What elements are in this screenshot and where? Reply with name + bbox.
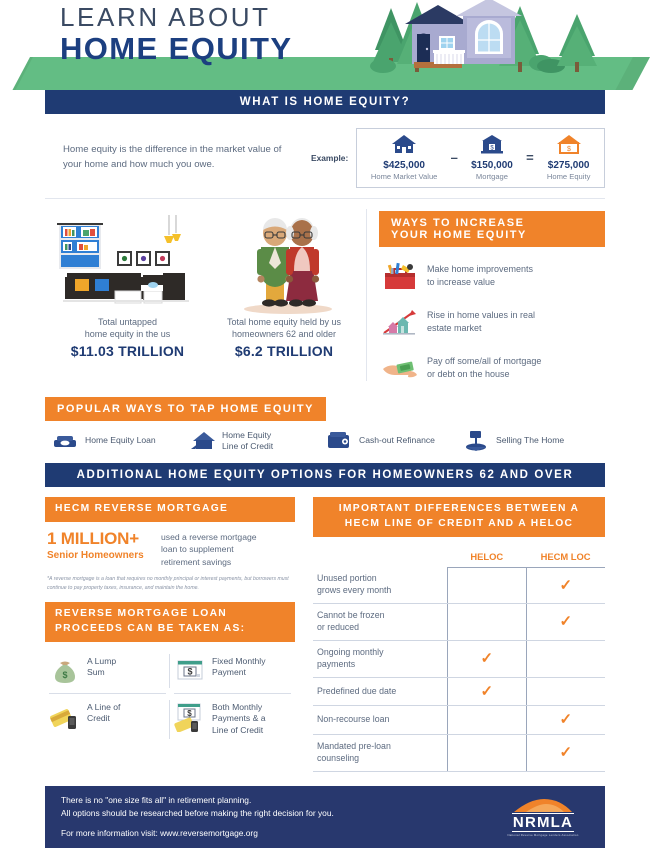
nrmla-tagline: National Reverse Mortgage Lenders Associ… xyxy=(497,833,589,837)
heloc-cell: ✓ xyxy=(447,604,526,641)
example-box: $425,000 Home Market Value – $ $150,000 … xyxy=(356,128,605,188)
comparison-header: IMPORTANT DIFFERENCES BETWEEN A HECM LIN… xyxy=(313,497,605,537)
example-amount: $275,000 xyxy=(547,160,590,171)
hecm-fineprint: *A reverse mortgage is a loan that requi… xyxy=(45,568,295,592)
example-amount: $425,000 xyxy=(371,160,438,171)
infographic-page: LEARN ABOUT HOME EQUITY WHAT IS HOME EQU… xyxy=(0,0,650,691)
example-item-home-equity: $ $275,000 Home Equity xyxy=(547,134,590,181)
hecm-stat-description: used a reverse mortgage loan to suppleme… xyxy=(155,530,257,568)
proceeds-option-label: Both Monthly Payments & a Line of Credit xyxy=(208,702,266,737)
sunrise-icon xyxy=(508,796,578,813)
check-icon: ✓ xyxy=(560,711,573,728)
heloc-cell: ✓ xyxy=(447,706,526,735)
proceeds-option-label: Fixed Monthly Payment xyxy=(208,656,266,679)
way-item-pay-off: Pay off some/all of mortgage or debt on … xyxy=(379,351,605,385)
table-row: Unused portion grows every month ✓ ✓ xyxy=(313,567,605,603)
table-row: Predefined due date ✓ ✓ xyxy=(313,677,605,706)
operator-minus: – xyxy=(449,150,460,165)
stat-value: $11.03 TRILLION xyxy=(45,343,210,359)
ways-to-increase-section: WAYS TO INCREASE YOUR HOME EQUITY xyxy=(375,199,605,385)
row-label: Mandated pre-loan counseling xyxy=(313,735,447,772)
stats-and-ways: Total untapped home equity in the us $11… xyxy=(45,199,605,385)
heloc-cell: ✓ xyxy=(447,567,526,603)
example-caption: Home Equity xyxy=(547,172,590,181)
stat-value: $6.2 TRILLION xyxy=(210,343,358,359)
ways-heading-line-2: YOUR HOME EQUITY xyxy=(391,229,593,241)
credit-cards-icon xyxy=(49,702,83,732)
money-bag-icon: $ xyxy=(49,656,83,686)
heloc-cell: ✓ xyxy=(447,677,526,706)
footer-website-link[interactable]: For more information visit: www.reversem… xyxy=(61,827,497,840)
hecm-reverse-mortgage-header: HECM REVERSE MORTGAGE xyxy=(45,497,295,522)
svg-text:$: $ xyxy=(187,666,192,676)
hecm-stat-figure: 1 MILLION+ Senior Homeowners xyxy=(47,530,155,568)
toolbox-icon xyxy=(379,259,421,293)
stat-untapped-equity: Total untapped home equity in the us $11… xyxy=(45,211,210,385)
hecm-cell: ✓ xyxy=(526,735,605,772)
way-text: Pay off some/all of mortgage or debt on … xyxy=(421,355,541,381)
hecm-cell: ✓ xyxy=(526,604,605,641)
vertical-divider xyxy=(366,209,367,381)
way-item-improvements: Make home improvements to increase value xyxy=(379,259,605,293)
ways-heading-line-1: WAYS TO INCREASE xyxy=(391,217,593,229)
stat-senior-equity: Total home equity held by us homeowners … xyxy=(210,211,358,385)
comparison-table-body: Unused portion grows every month ✓ ✓ Can… xyxy=(313,567,605,771)
house-dollar-icon: $ xyxy=(556,134,582,154)
hand-money-icon xyxy=(379,351,421,385)
svg-text:$: $ xyxy=(62,670,67,680)
footer-line-1: There is no "one size fits all" in retir… xyxy=(61,794,497,807)
proceeds-options-grid: $ A Lump Sum $ xyxy=(45,642,295,745)
operator-equals: = xyxy=(524,150,536,165)
footer-text: There is no "one size fits all" in retir… xyxy=(61,794,497,840)
table-row: Ongoing monthly payments ✓ ✓ xyxy=(313,640,605,677)
header-banner: LEARN ABOUT HOME EQUITY xyxy=(0,0,650,90)
popular-way-label: Home Equity Loan xyxy=(81,435,156,446)
popular-ways-header: POPULAR WAYS TO TAP HOME EQUITY xyxy=(45,397,326,421)
hecm-cell: ✓ xyxy=(526,706,605,735)
additional-options-header: ADDITIONAL HOME EQUITY OPTIONS FOR HOMEO… xyxy=(45,463,605,487)
popular-ways-section: POPULAR WAYS TO TAP HOME EQUITY Home Equ… xyxy=(45,397,605,463)
proceeds-option-label: A Lump Sum xyxy=(83,656,116,679)
bank-icon: $ xyxy=(480,134,504,154)
rising-chart-houses-icon xyxy=(379,305,421,339)
row-label: Non-recourse loan xyxy=(313,706,447,735)
what-is-section-header: WHAT IS HOME EQUITY? xyxy=(45,90,605,114)
what-is-bar-wrap: WHAT IS HOME EQUITY? xyxy=(45,90,605,114)
example-calculation: Example: $425,000 Home Market Value – xyxy=(295,128,605,188)
example-caption: Home Market Value xyxy=(371,172,438,181)
proceeds-header: REVERSE MORTGAGE LOAN PROCEEDS CAN BE TA… xyxy=(45,602,295,642)
popular-way-line-of-credit: Home Equity Line of Credit xyxy=(188,429,325,453)
lower-content: HECM REVERSE MORTGAGE 1 MILLION+ Senior … xyxy=(45,487,605,772)
table-header-row: HELOC HECM LOC xyxy=(313,547,605,568)
table-row: Non-recourse loan ✓ ✓ xyxy=(313,706,605,735)
example-item-market-value: $425,000 Home Market Value xyxy=(371,134,438,181)
comparison-heading-line-1: IMPORTANT DIFFERENCES BETWEEN A xyxy=(323,502,595,517)
hecm-stat-row: 1 MILLION+ Senior Homeowners used a reve… xyxy=(45,522,295,568)
popular-way-selling-the-home: Selling The Home xyxy=(462,429,599,453)
way-text: Rise in home values in real estate marke… xyxy=(421,309,535,335)
proceeds-option-label: A Line of Credit xyxy=(83,702,120,725)
row-label: Cannot be frozen or reduced xyxy=(313,604,447,641)
proceeds-option-lump-sum: $ A Lump Sum xyxy=(45,648,170,694)
house-scene-illustration xyxy=(355,0,650,90)
house-arrow-icon xyxy=(188,429,218,453)
living-room-illustration xyxy=(45,211,210,316)
wallet-icon xyxy=(325,429,355,453)
title-line-1: LEARN ABOUT xyxy=(60,4,292,31)
check-icon: ✓ xyxy=(560,577,573,594)
what-is-description: Home equity is the difference in the mar… xyxy=(45,143,295,173)
ways-to-increase-header: WAYS TO INCREASE YOUR HOME EQUITY xyxy=(379,211,605,247)
title-line-2: HOME EQUITY xyxy=(60,33,292,66)
house-icon xyxy=(391,134,417,154)
comparison-heading-line-2: HECM LINE OF CREDIT AND A HELOC xyxy=(323,517,595,532)
senior-couple-illustration xyxy=(210,211,358,316)
heloc-cell: ✓ xyxy=(447,640,526,677)
column-header-hecm-loc: HECM LOC xyxy=(526,547,605,568)
stat-caption-line-1: Total home equity held by us xyxy=(210,316,358,328)
footer-line-2: All options should be researched before … xyxy=(61,807,497,820)
check-and-cards-icon: $ xyxy=(174,702,208,732)
what-is-content: Home equity is the difference in the mar… xyxy=(45,114,605,198)
hecm-cell: ✓ xyxy=(526,567,605,603)
way-item-home-values: Rise in home values in real estate marke… xyxy=(379,305,605,339)
popular-way-cash-out-refinance: Cash-out Refinance xyxy=(325,429,462,453)
table-row: Mandated pre-loan counseling ✓ ✓ xyxy=(313,735,605,772)
example-item-mortgage: $ $150,000 Mortgage xyxy=(471,134,513,181)
popular-way-label: Cash-out Refinance xyxy=(355,435,435,446)
row-label: Ongoing monthly payments xyxy=(313,640,447,677)
table-row: Cannot be frozen or reduced ✓ ✓ xyxy=(313,604,605,641)
popular-way-label: Selling The Home xyxy=(492,435,564,446)
additional-options-bar-wrap: ADDITIONAL HOME EQUITY OPTIONS FOR HOMEO… xyxy=(45,463,605,487)
check-icon: ✓ xyxy=(480,650,493,667)
popular-ways-list: Home Equity Loan Home Equity Line of Cre… xyxy=(45,421,605,463)
svg-text:$: $ xyxy=(567,146,571,153)
stat-caption-line-1: Total untapped xyxy=(45,316,210,328)
svg-text:$: $ xyxy=(187,709,192,718)
stats-group: Total untapped home equity in the us $11… xyxy=(45,199,358,385)
nrmla-wordmark: NRMLA xyxy=(512,813,574,832)
hecm-cell: ✓ xyxy=(526,640,605,677)
example-amount: $150,000 xyxy=(471,160,513,171)
column-header-heloc: HELOC xyxy=(447,547,526,568)
hecm-cell: ✓ xyxy=(526,677,605,706)
example-label: Example: xyxy=(311,153,348,163)
popular-way-home-equity-loan: Home Equity Loan xyxy=(51,429,188,453)
proceeds-heading-line-2: PROCEEDS CAN BE TAKEN AS: xyxy=(55,622,285,637)
popular-way-label: Home Equity Line of Credit xyxy=(218,430,273,452)
proceeds-option-fixed-monthly: $ Fixed Monthly Payment xyxy=(170,648,295,694)
check-icon: ✓ xyxy=(560,744,573,761)
proceeds-heading-line-1: REVERSE MORTGAGE LOAN xyxy=(55,607,285,622)
heloc-cell: ✓ xyxy=(447,735,526,772)
hecm-column: HECM REVERSE MORTGAGE 1 MILLION+ Senior … xyxy=(45,497,295,772)
way-text: Make home improvements to increase value xyxy=(421,263,533,289)
cash-stack-icon xyxy=(51,429,81,453)
stat-caption-line-2: home equity in the us xyxy=(45,328,210,340)
example-caption: Mortgage xyxy=(471,172,513,181)
proceeds-option-both: $ Both Monthly Payments & a Line of Cred… xyxy=(170,694,295,745)
column-header-blank xyxy=(313,547,447,568)
comparison-table: HELOC HECM LOC Unused portion grows ever… xyxy=(313,547,605,772)
row-label: Predefined due date xyxy=(313,677,447,706)
hecm-stat-sub: Senior Homeowners xyxy=(47,550,155,561)
proceeds-option-line-of-credit: A Line of Credit xyxy=(45,694,170,745)
stat-caption-line-2: homeowners 62 and older xyxy=(210,328,358,340)
check-icon: ✓ xyxy=(560,613,573,630)
comparison-column: IMPORTANT DIFFERENCES BETWEEN A HECM LIN… xyxy=(295,497,605,772)
hecm-stat-big: 1 MILLION+ xyxy=(47,530,155,547)
footer-banner: There is no "one size fits all" in retir… xyxy=(45,786,605,848)
nrmla-logo: NRMLA National Reverse Mortgage Lenders … xyxy=(497,796,589,837)
check-icon: ✓ xyxy=(480,683,493,700)
check-dollar-icon: $ xyxy=(174,656,208,686)
row-label: Unused portion grows every month xyxy=(313,567,447,603)
page-title: LEARN ABOUT HOME EQUITY xyxy=(60,4,292,66)
for-sale-sign-icon xyxy=(462,429,492,453)
